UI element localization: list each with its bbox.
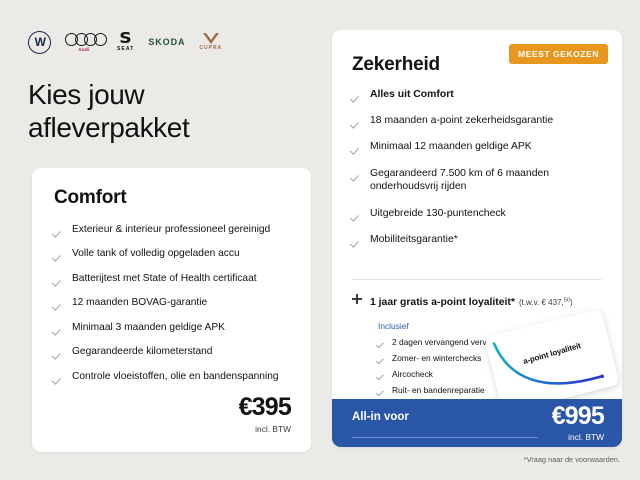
page-title: Kies jouw afleverpakket	[28, 78, 308, 144]
bonus-title: 1 jaar gratis a-point loyaliteit*	[370, 297, 515, 308]
check-icon	[54, 226, 64, 236]
check-icon	[352, 117, 362, 127]
list-item: Minimaal 3 maanden geldige APK	[54, 321, 292, 334]
check-icon	[378, 355, 386, 363]
divider	[352, 279, 602, 280]
check-icon	[378, 387, 386, 395]
plus-icon	[352, 294, 362, 304]
check-icon	[54, 299, 64, 309]
check-icon	[352, 143, 362, 153]
skoda-logo-icon: SKODA	[148, 37, 185, 47]
list-item: Alles uit Comfort	[352, 88, 602, 102]
zekerheid-price-bar[interactable]: All-in voor €995 incl. BTW	[332, 399, 622, 447]
list-item: Controle vloeistoffen, olie en bandenspa…	[54, 370, 292, 383]
check-icon	[378, 339, 386, 347]
comfort-price: €395	[239, 395, 291, 420]
comfort-price-note: incl. BTW	[239, 424, 291, 434]
vw-logo-icon: W	[28, 31, 51, 54]
list-item: Gegarandeerd 7.500 km of 6 maanden onder…	[352, 167, 602, 194]
seat-logo-icon: S SEAT	[117, 32, 134, 53]
check-icon	[54, 250, 64, 260]
seat-wordmark: SEAT	[117, 46, 134, 52]
check-icon	[54, 324, 64, 334]
list-item: 18 maanden a-point zekerheidsgarantie	[352, 114, 602, 128]
check-icon	[352, 170, 362, 180]
comfort-title: Comfort	[54, 187, 126, 209]
package-card-zekerheid[interactable]: MEEST GEKOZEN Zekerheid Alles uit Comfor…	[332, 30, 622, 447]
zekerheid-title: Zekerheid	[352, 54, 440, 76]
check-icon	[54, 348, 64, 358]
check-icon	[352, 91, 362, 101]
list-item: Uitgebreide 130-puntencheck	[352, 207, 602, 221]
check-icon	[352, 236, 362, 246]
audi-wordmark: Audi	[78, 47, 90, 52]
list-item: 12 maanden BOVAG-garantie	[54, 296, 292, 309]
zekerheid-price-note: incl. BTW	[552, 432, 604, 442]
audi-logo-icon: Audi	[65, 33, 103, 52]
bonus-value: (t.w.v. € 437,50)	[519, 298, 573, 307]
list-item: Mobiliteitsgarantie*	[352, 233, 602, 247]
package-card-comfort[interactable]: Comfort Exterieur & interieur profession…	[32, 168, 311, 452]
cupra-logo-icon: CUPRA	[199, 33, 222, 51]
comfort-price-block: €395 incl. BTW	[239, 395, 291, 434]
cupra-wordmark: CUPRA	[199, 45, 222, 51]
bonus-row: 1 jaar gratis a-point loyaliteit*(t.w.v.…	[352, 292, 610, 310]
comfort-feature-list: Exterieur & interieur professioneel gere…	[54, 223, 292, 394]
list-item: Volle tank of volledig opgeladen accu	[54, 247, 292, 260]
zekerheid-price: €995	[552, 404, 604, 429]
check-icon	[54, 275, 64, 285]
footnote: *Vraag naar de voorwaarden.	[524, 455, 620, 464]
allin-label: All-in voor	[352, 411, 409, 423]
zekerheid-feature-list: Alles uit Comfort 18 maanden a-point zek…	[352, 88, 602, 259]
offer-page: W Audi S SEAT SKODA CUPRA Kies jouw afle…	[0, 0, 640, 480]
check-icon	[352, 210, 362, 220]
zekerheid-price-block: €995 incl. BTW	[552, 404, 604, 442]
brand-logo-strip: W Audi S SEAT SKODA CUPRA	[28, 27, 222, 57]
list-item: Batterijtest met State of Health certifi…	[54, 272, 292, 285]
skoda-wordmark: SKODA	[148, 37, 185, 47]
list-item: Exterieur & interieur professioneel gere…	[54, 223, 292, 236]
list-item: Gegarandeerde kilometerstand	[54, 345, 292, 358]
list-item: Minimaal 12 maanden geldige APK	[352, 140, 602, 154]
divider	[352, 437, 538, 438]
check-icon	[378, 371, 386, 379]
check-icon	[54, 373, 64, 383]
status-badge: MEEST GEKOZEN	[509, 44, 608, 64]
